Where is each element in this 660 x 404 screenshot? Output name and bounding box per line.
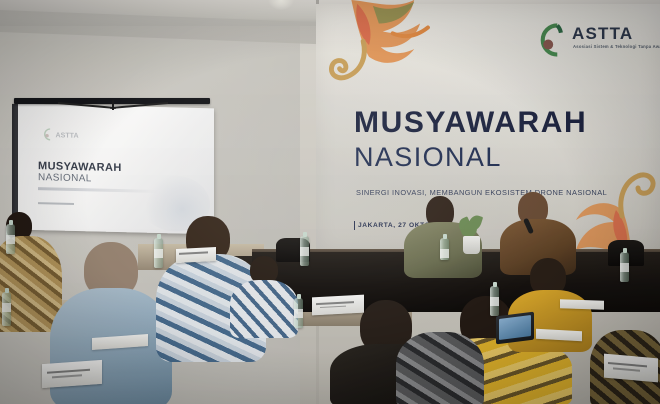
water-bottle bbox=[154, 238, 163, 268]
slide-tagline-bar bbox=[38, 187, 158, 193]
astta-wordmark: ASTTA bbox=[572, 24, 633, 44]
screen-hook bbox=[112, 100, 114, 110]
astta-subtitle: Asosiasi Sistem & Teknologi Tanpa Awak bbox=[573, 44, 660, 49]
astta-swirl-icon bbox=[530, 20, 570, 60]
event-backdrop-banner: ASTTA Asosiasi Sistem & Teknologi Tanpa … bbox=[316, 4, 660, 254]
audience-blue-floral bbox=[236, 256, 294, 332]
slide-astta-logo-icon: ASTTA bbox=[40, 126, 94, 143]
water-bottle bbox=[6, 224, 15, 254]
slide-rule bbox=[38, 202, 74, 204]
name-tent-card bbox=[312, 295, 364, 316]
slide-subtitle: NASIONAL bbox=[38, 172, 92, 184]
svg-text:ASTTA: ASTTA bbox=[56, 131, 79, 140]
laptop bbox=[496, 314, 534, 342]
water-bottle bbox=[300, 236, 309, 266]
water-bottle bbox=[294, 298, 303, 328]
paper-sheet bbox=[560, 299, 604, 310]
name-tent-card bbox=[604, 354, 658, 383]
banner-title-line1: MUSYAWARAH bbox=[354, 108, 587, 138]
batik-ornament-top-left-icon bbox=[312, 0, 430, 106]
conference-photo: ASTTA MUSYAWARAH NASIONAL bbox=[0, 0, 660, 404]
name-tent-card bbox=[176, 247, 216, 263]
body bbox=[396, 332, 484, 404]
banner-title-line2: NASIONAL bbox=[354, 144, 502, 171]
ceiling-light bbox=[268, 0, 294, 10]
body bbox=[230, 280, 298, 338]
water-bottle bbox=[490, 286, 499, 316]
water-bottle bbox=[2, 292, 11, 326]
flower-vase bbox=[458, 214, 484, 254]
banner-astta-logo: ASTTA Asosiasi Sistem & Teknologi Tanpa … bbox=[528, 18, 646, 60]
audience-grey-batik bbox=[396, 318, 480, 404]
name-tent-card bbox=[42, 360, 102, 388]
laptop-screen bbox=[499, 315, 531, 340]
water-bottle bbox=[440, 238, 449, 260]
water-bottle bbox=[620, 252, 629, 282]
vase-pot bbox=[463, 236, 480, 254]
